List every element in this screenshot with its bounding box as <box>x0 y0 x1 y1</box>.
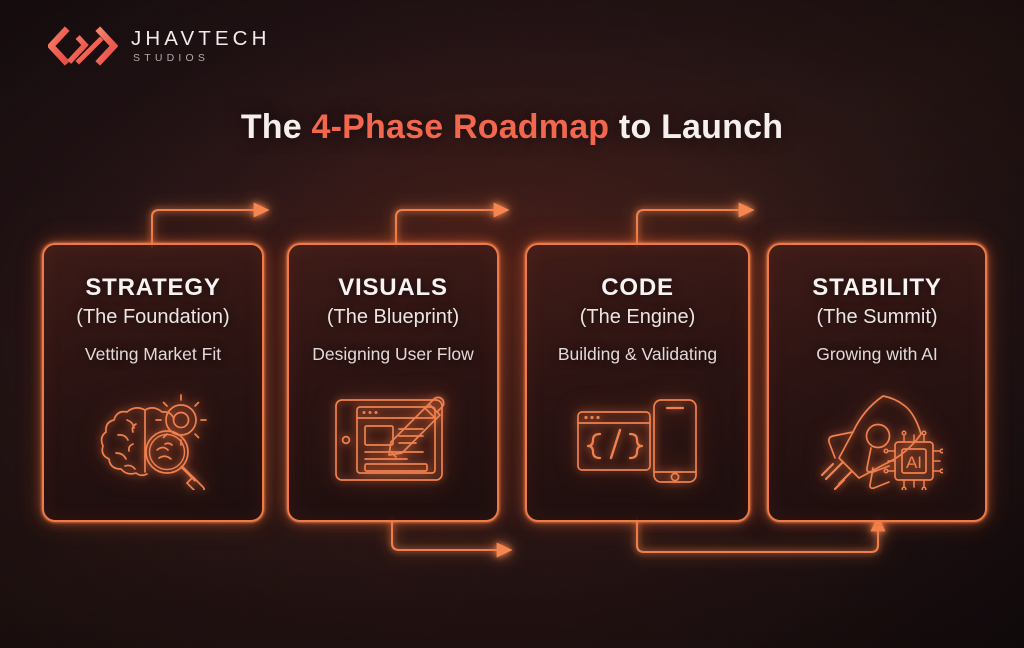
phase-card-strategy[interactable]: STRATEGY (The Foundation) Vetting Market… <box>42 243 264 522</box>
jhavtech-chevron-logo-icon <box>48 26 118 66</box>
page-title-accent: 4-Phase Roadmap <box>312 108 610 146</box>
phase-card-desc: Designing User Flow <box>312 345 473 364</box>
phase-card-stability[interactable]: STABILITY (The Summit) Growing with AI <box>767 243 987 522</box>
phase-card-subtitle: (The Engine) <box>580 307 696 329</box>
brain-gear-magnifier-icon <box>89 390 217 490</box>
phase-card-subtitle: (The Blueprint) <box>327 307 459 329</box>
phase-card-title: VISUALS <box>338 276 448 300</box>
phase-card-code[interactable]: CODE (The Engine) Building & Validating <box>525 243 750 522</box>
phase-card-title: CODE <box>601 276 674 300</box>
phase-card-title: STRATEGY <box>85 276 220 300</box>
brand-logo[interactable]: JHAVTECH STUDIOS <box>48 26 270 66</box>
phase-card-visuals[interactable]: VISUALS (The Blueprint) Designing User F… <box>287 243 499 522</box>
page-title-suffix: to Launch <box>609 108 783 146</box>
phase-card-subtitle: (The Summit) <box>816 307 937 329</box>
phase-card-desc: Vetting Market Fit <box>85 345 221 364</box>
page-title: The 4-Phase Roadmap to Launch <box>0 108 1024 147</box>
phase-card-title: STABILITY <box>812 276 941 300</box>
phase-card-desc: Growing with AI <box>816 345 938 364</box>
code-window-phone-icon <box>574 390 702 490</box>
page-title-prefix: The <box>241 108 312 146</box>
brand-logo-text: JHAVTECH STUDIOS <box>131 28 270 64</box>
rocket-ai-chip-icon: AI <box>811 390 943 490</box>
brand-name: JHAVTECH <box>131 28 270 50</box>
tablet-wireframe-pencil-icon <box>331 390 455 490</box>
phase-card-subtitle: (The Foundation) <box>76 307 229 329</box>
ai-chip-label: AI <box>906 453 922 472</box>
phase-card-desc: Building & Validating <box>558 345 717 364</box>
brand-subtitle: STUDIOS <box>131 52 270 64</box>
